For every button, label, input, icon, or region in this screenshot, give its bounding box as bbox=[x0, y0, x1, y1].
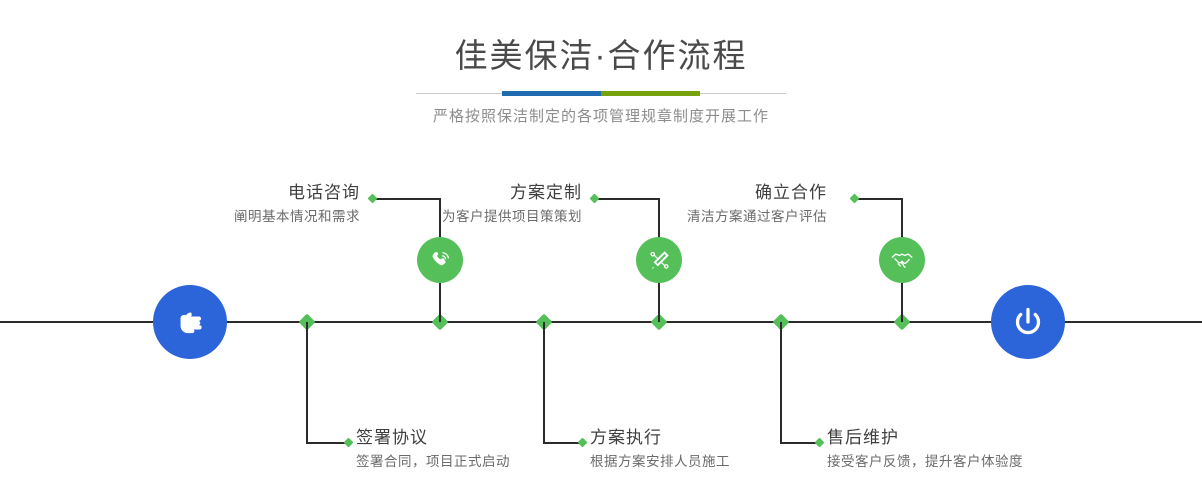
process-timeline: 电话咨询 阐明基本情况和需求 签署协议 签署合同，项目正式启动 bbox=[0, 160, 1202, 490]
pointing-hand-icon bbox=[169, 301, 211, 343]
label-marker-step-1 bbox=[368, 194, 378, 204]
step-desc-step-6: 接受客户反馈，提升客户体验度 bbox=[827, 451, 1023, 473]
step-label-step-1: 电话咨询 阐明基本情况和需求 bbox=[234, 182, 360, 228]
connector-horizontal-step-1 bbox=[374, 198, 441, 200]
label-marker-step-3 bbox=[590, 194, 600, 204]
label-marker-step-6 bbox=[815, 438, 825, 448]
step-icon-step-3[interactable] bbox=[636, 237, 682, 283]
divider-segment-blue bbox=[502, 91, 601, 96]
step-label-step-2: 签署协议 签署合同，项目正式启动 bbox=[356, 427, 510, 473]
step-desc-step-1: 阐明基本情况和需求 bbox=[234, 206, 360, 228]
step-desc-step-3: 为客户提供项目策策划 bbox=[442, 206, 582, 228]
divider-segment-green bbox=[601, 91, 700, 96]
step-desc-step-5: 清洁方案通过客户评估 bbox=[687, 206, 827, 228]
step-desc-step-2: 签署合同，项目正式启动 bbox=[356, 451, 510, 473]
step-desc-step-4: 根据方案安排人员施工 bbox=[590, 451, 730, 473]
connector-horizontal-step-5 bbox=[856, 198, 903, 200]
connector-horizontal-step-3 bbox=[596, 198, 660, 200]
step-title-step-4: 方案执行 bbox=[590, 427, 730, 449]
step-label-step-6: 售后维护 接受客户反馈，提升客户体验度 bbox=[827, 427, 1023, 473]
header: 佳美保洁·合作流程 严格按照保洁制定的各项管理规章制度开展工作 bbox=[0, 34, 1202, 128]
timeline-end-node[interactable] bbox=[991, 285, 1065, 359]
flow-infographic: 佳美保洁·合作流程 严格按照保洁制定的各项管理规章制度开展工作 bbox=[0, 0, 1202, 502]
power-icon bbox=[1007, 301, 1049, 343]
step-label-step-4: 方案执行 根据方案安排人员施工 bbox=[590, 427, 730, 473]
page-title: 佳美保洁·合作流程 bbox=[0, 34, 1202, 78]
step-title-step-6: 售后维护 bbox=[827, 427, 1023, 449]
step-title-step-1: 电话咨询 bbox=[234, 182, 360, 204]
step-title-step-5: 确立合作 bbox=[687, 182, 827, 204]
handshake-icon bbox=[889, 247, 916, 274]
timeline-start-node[interactable] bbox=[153, 285, 227, 359]
step-title-step-2: 签署协议 bbox=[356, 427, 510, 449]
title-divider bbox=[416, 91, 786, 96]
connector-vertical-step-4 bbox=[543, 322, 545, 444]
label-marker-step-4 bbox=[578, 438, 588, 448]
step-icon-step-5[interactable] bbox=[879, 237, 925, 283]
connector-vertical-step-6 bbox=[780, 322, 782, 444]
connector-vertical-step-2 bbox=[306, 322, 308, 444]
label-marker-step-2 bbox=[344, 438, 354, 448]
page-subtitle: 严格按照保洁制定的各项管理规章制度开展工作 bbox=[0, 106, 1202, 128]
pencil-ruler-icon bbox=[646, 247, 673, 274]
step-label-step-3: 方案定制 为客户提供项目策策划 bbox=[442, 182, 582, 228]
label-marker-step-5 bbox=[850, 194, 860, 204]
step-title-step-3: 方案定制 bbox=[442, 182, 582, 204]
step-label-step-5: 确立合作 清洁方案通过客户评估 bbox=[687, 182, 827, 228]
step-icon-step-1[interactable] bbox=[417, 237, 463, 283]
phone-call-icon bbox=[427, 247, 454, 274]
